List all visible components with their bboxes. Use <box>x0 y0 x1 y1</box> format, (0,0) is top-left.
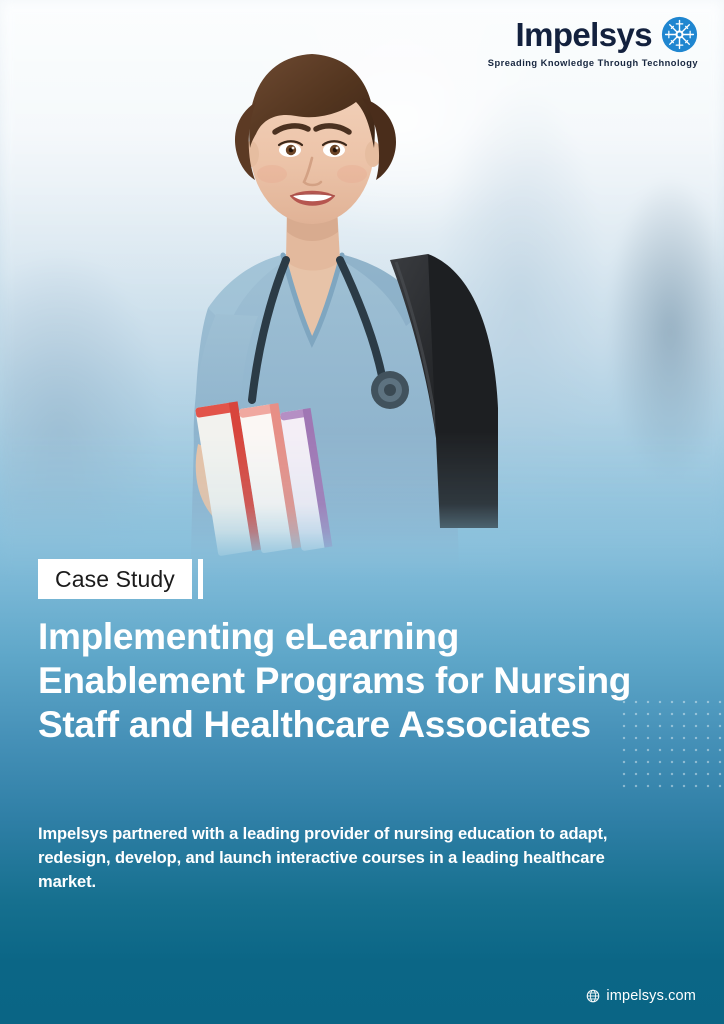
footer-website-label: impelsys.com <box>606 988 696 1004</box>
page-title: Implementing eLearning Enablement Progra… <box>38 615 638 748</box>
starburst-snowflake-icon <box>661 16 698 53</box>
badge-accent-bar <box>198 559 203 599</box>
impelsys-logo[interactable]: Impelsys <box>488 16 698 68</box>
hero-photo <box>0 0 724 600</box>
case-study-cover-page: Impelsys <box>0 0 724 1024</box>
page-subtitle: Impelsys partnered with a leading provid… <box>38 822 638 894</box>
logo-wordmark: Impelsys <box>516 18 652 51</box>
nurse-photo-illustration <box>90 8 510 588</box>
footer-website[interactable]: impelsys.com <box>586 988 696 1004</box>
case-study-badge: Case Study <box>38 559 192 599</box>
logo-tagline: Spreading Knowledge Through Technology <box>488 58 698 68</box>
globe-icon <box>586 989 600 1003</box>
case-study-badge-group: Case Study <box>38 559 203 599</box>
